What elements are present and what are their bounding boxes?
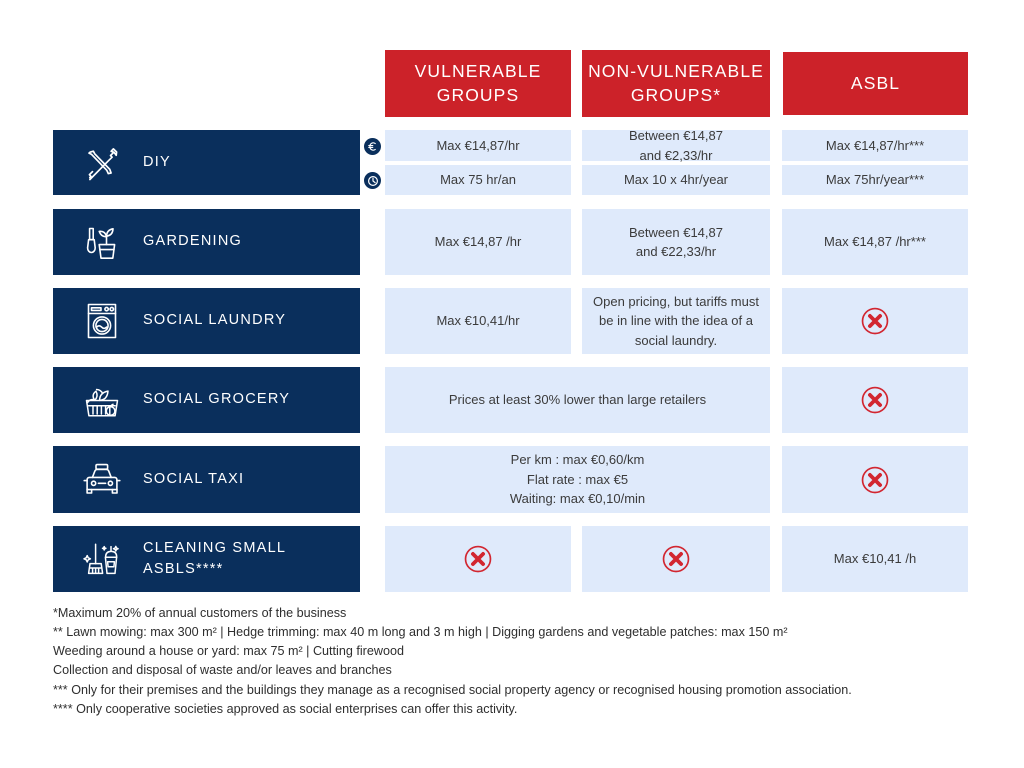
column-header-vulnerable-groups: VULNERABLE GROUPS bbox=[385, 50, 571, 117]
row-label-text: SOCIAL GROCERY bbox=[143, 389, 290, 410]
row-label-text: CLEANING SMALL ASBLS**** bbox=[143, 538, 286, 580]
clock-icon bbox=[364, 172, 381, 189]
footnotes: *Maximum 20% of annual customers of the … bbox=[53, 604, 983, 719]
column-header-asbl: ASBL bbox=[783, 52, 968, 115]
not-available-x-icon bbox=[860, 465, 890, 495]
row-label-text: DIY bbox=[143, 152, 171, 173]
row-label-text: GARDENING bbox=[143, 231, 242, 252]
footnote-5: *** Only for their premises and the buil… bbox=[53, 681, 983, 700]
taxi-icon bbox=[73, 462, 131, 498]
not-available-x-icon bbox=[860, 306, 890, 336]
cell-gardening-vulnerable: Max €14,87 /hr bbox=[385, 209, 571, 275]
cell-cleaning-nonvulnerable-not-available bbox=[582, 526, 770, 592]
not-available-x-icon bbox=[860, 385, 890, 415]
row-label-social-grocery: SOCIAL GROCERY bbox=[53, 367, 360, 433]
row-label-social-taxi: SOCIAL TAXI bbox=[53, 446, 360, 513]
cell-gardening-nonvulnerable: Between €14,87 and €22,33/hr bbox=[582, 209, 770, 275]
euro-icon bbox=[364, 138, 381, 155]
footnote-3: Weeding around a house or yard: max 75 m… bbox=[53, 642, 983, 661]
cell-laundry-nonvulnerable: Open pricing, but tariffs must be in lin… bbox=[582, 288, 770, 354]
row-label-cleaning-small-asbls: CLEANING SMALL ASBLS**** bbox=[53, 526, 360, 592]
cell-grocery-all-groups: Prices at least 30% lower than large ret… bbox=[385, 367, 770, 433]
column-header-non-vulnerable-groups: NON-VULNERABLE GROUPS* bbox=[582, 50, 770, 117]
cell-diy-nonvulnerable-rate: Between €14,87 and €2,33/hr bbox=[582, 130, 770, 161]
cell-taxi-asbl-not-available bbox=[782, 446, 968, 513]
comparison-table-page: VULNERABLE GROUPS NON-VULNERABLE GROUPS*… bbox=[0, 0, 1024, 768]
cell-laundry-asbl-not-available bbox=[782, 288, 968, 354]
footnote-4: Collection and disposal of waste and/or … bbox=[53, 661, 983, 680]
not-available-x-icon bbox=[463, 544, 493, 574]
cell-diy-vulnerable-rate: Max €14,87/hr bbox=[385, 130, 571, 161]
cell-diy-asbl-hours: Max 75hr/year*** bbox=[782, 165, 968, 195]
cell-diy-asbl-rate: Max €14,87/hr*** bbox=[782, 130, 968, 161]
row-label-gardening: GARDENING bbox=[53, 209, 360, 275]
cell-diy-nonvulnerable-hours: Max 10 x 4hr/year bbox=[582, 165, 770, 195]
cell-laundry-vulnerable: Max €10,41/hr bbox=[385, 288, 571, 354]
footnote-2: ** Lawn mowing: max 300 m² | Hedge trimm… bbox=[53, 623, 983, 642]
cell-grocery-asbl-not-available bbox=[782, 367, 968, 433]
row-label-social-laundry: SOCIAL LAUNDRY bbox=[53, 288, 360, 354]
grocery-basket-icon bbox=[73, 381, 131, 419]
row-label-diy: DIY bbox=[53, 130, 360, 195]
footnote-6: **** Only cooperative societies approved… bbox=[53, 700, 983, 719]
trowel-plant-icon bbox=[73, 222, 131, 262]
footnote-1: *Maximum 20% of annual customers of the … bbox=[53, 604, 983, 623]
cell-cleaning-vulnerable-not-available bbox=[385, 526, 571, 592]
cell-cleaning-asbl: Max €10,41 /h bbox=[782, 526, 968, 592]
washing-machine-icon bbox=[73, 301, 131, 341]
row-label-text: SOCIAL TAXI bbox=[143, 469, 244, 490]
row-label-text: SOCIAL LAUNDRY bbox=[143, 310, 286, 331]
cell-taxi-all-groups: Per km : max €0,60/km Flat rate : max €5… bbox=[385, 446, 770, 513]
crossed-tools-icon bbox=[73, 144, 131, 182]
cell-gardening-asbl: Max €14,87 /hr*** bbox=[782, 209, 968, 275]
broom-bucket-icon bbox=[73, 539, 131, 579]
cell-diy-vulnerable-hours: Max 75 hr/an bbox=[385, 165, 571, 195]
not-available-x-icon bbox=[661, 544, 691, 574]
